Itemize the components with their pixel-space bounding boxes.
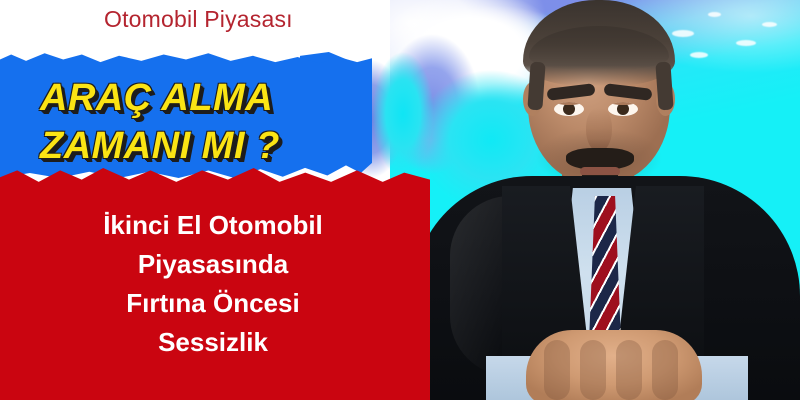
headline-line-1: ARAÇ ALMA xyxy=(40,74,380,122)
kicker-label: Otomobil Piyasası xyxy=(104,6,293,33)
presenter-photo xyxy=(390,0,800,400)
article-banner: Otomobil Piyasası ARAÇ ALMA ZAMANI MI ? … xyxy=(0,0,800,400)
finger xyxy=(544,340,570,400)
finger xyxy=(616,340,642,400)
body-line-4: Sessizlik xyxy=(48,323,378,362)
cyan-blob xyxy=(372,52,434,176)
eye-left xyxy=(554,102,584,116)
nose xyxy=(586,108,612,152)
finger xyxy=(580,340,606,400)
clasped-hands xyxy=(526,330,702,400)
presenter-figure xyxy=(390,0,800,400)
body-line-3: Fırtına Öncesi xyxy=(48,284,378,323)
headline: ARAÇ ALMA ZAMANI MI ? xyxy=(40,74,380,170)
finger xyxy=(652,340,678,400)
body-line-1: İkinci El Otomobil xyxy=(48,206,378,245)
headline-line-2: ZAMANI MI ? xyxy=(40,122,380,170)
hair xyxy=(523,0,675,86)
body-line-2: Piyasasında xyxy=(48,245,378,284)
body-copy: İkinci El Otomobil Piyasasında Fırtına Ö… xyxy=(48,206,378,362)
eye-right xyxy=(608,102,638,116)
